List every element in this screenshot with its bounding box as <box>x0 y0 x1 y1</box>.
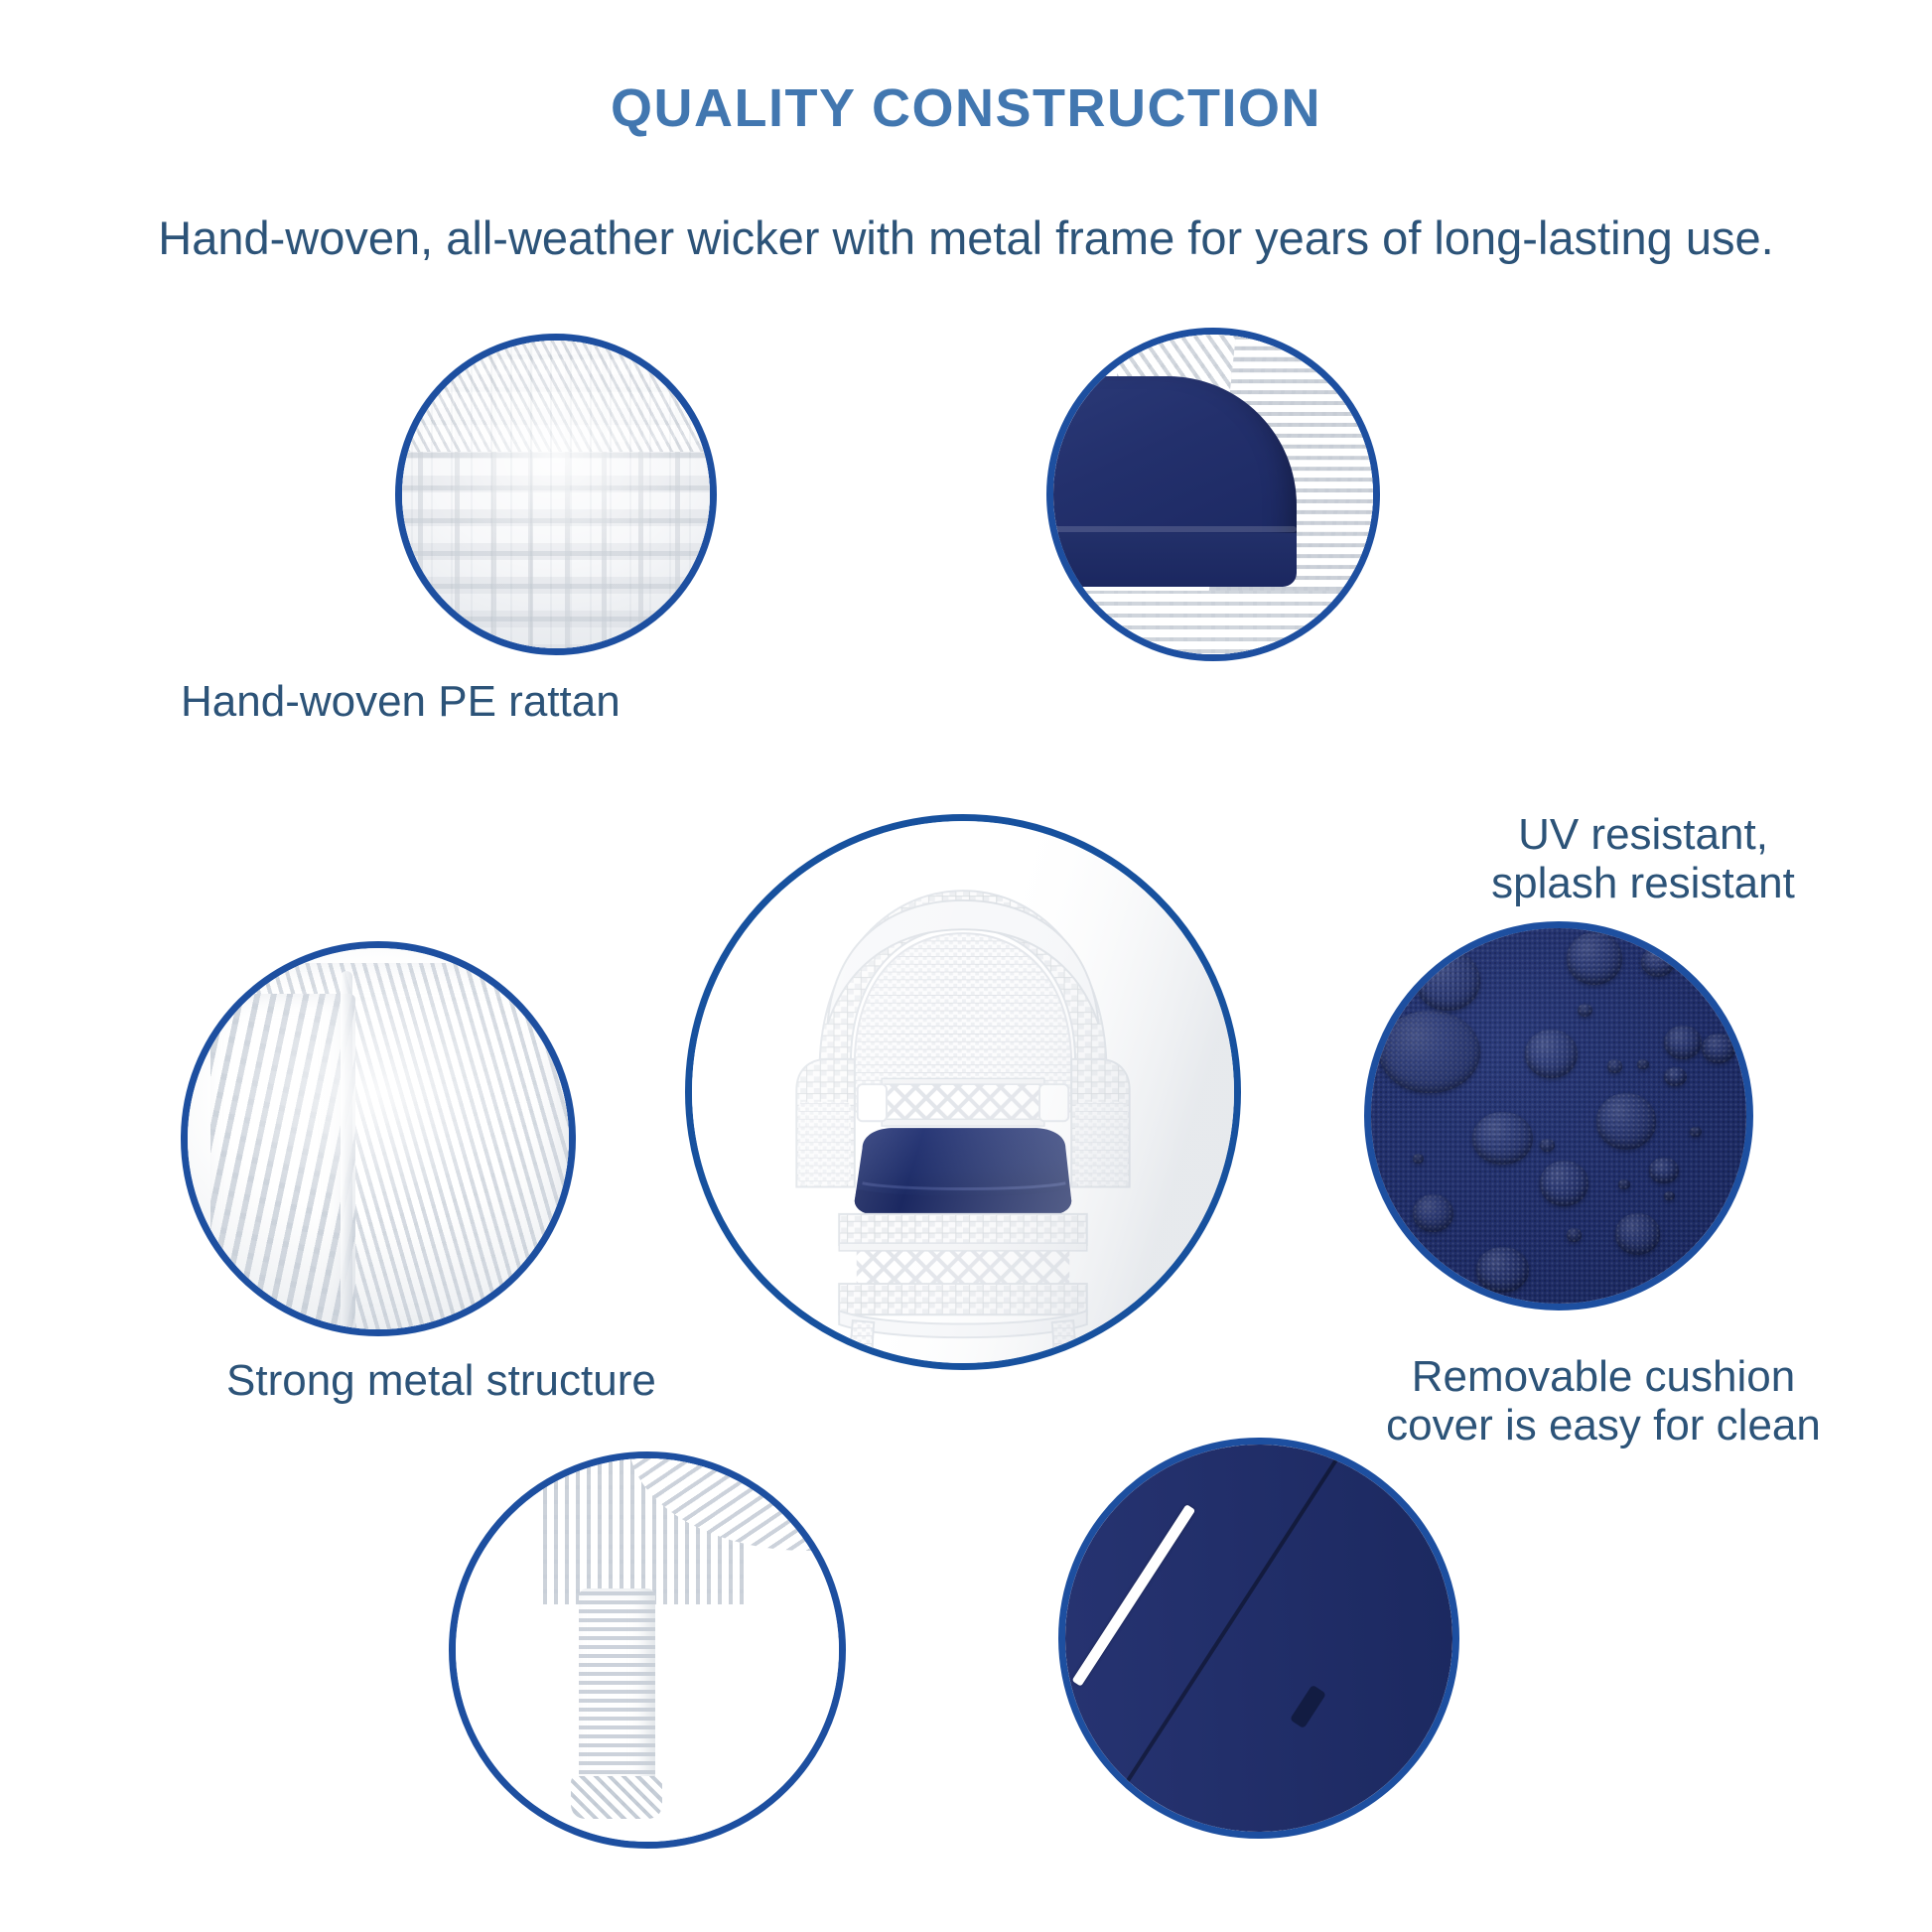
water-drop <box>1476 1247 1529 1292</box>
water-drop <box>1664 1026 1702 1059</box>
water-drop <box>1567 932 1623 985</box>
page-subtitle: Hand-woven, all-weather wicker with meta… <box>0 210 1932 265</box>
wicker-seat-base <box>1046 591 1341 661</box>
water-drop <box>1641 947 1675 977</box>
water-drop <box>1379 1011 1480 1093</box>
water-drop <box>1416 951 1479 1011</box>
water-drop <box>1649 1158 1679 1183</box>
wicker-armchair-illustration <box>692 821 1234 1363</box>
water-drop <box>1578 1004 1592 1017</box>
quality-construction-infographic: QUALITY CONSTRUCTION Hand-woven, all-wea… <box>0 0 1932 1932</box>
water-drop <box>1413 1194 1454 1232</box>
wicker-top-crosshatch <box>395 334 717 452</box>
water-drop <box>1690 1127 1701 1137</box>
water-drop <box>1664 1067 1687 1086</box>
leg-wrapped-shaft <box>579 1588 655 1788</box>
water-drop <box>1567 1228 1582 1241</box>
caption-removable-cushion-cover: Removable cushion cover is easy for clea… <box>1320 1352 1886 1450</box>
water-drop <box>1540 1161 1588 1205</box>
water-drop <box>1472 1112 1532 1165</box>
feature-circle-full-chair <box>685 814 1241 1370</box>
chair-arm-structure-image <box>188 948 569 1329</box>
arm-corner-edge <box>341 971 352 1336</box>
page-title: QUALITY CONSTRUCTION <box>0 77 1932 139</box>
navy-cover-panel <box>1065 1445 1452 1832</box>
wicker-weave-image <box>402 341 710 648</box>
feature-circle-removable-cushion-cover <box>1364 921 1753 1311</box>
caption-hand-woven-pe-rattan: Hand-woven PE rattan <box>181 677 697 726</box>
water-drop <box>1615 1213 1660 1255</box>
caption-strong-metal-structure: Strong metal structure <box>226 1356 782 1405</box>
water-drop <box>1525 1030 1578 1078</box>
full-chair-image <box>692 821 1234 1363</box>
water-droplets-image <box>1371 928 1746 1304</box>
arm-front-openweave <box>210 994 355 1336</box>
chair-leg-image <box>456 1458 839 1842</box>
cushion-zipper-image <box>1065 1445 1452 1832</box>
cushion-on-wicker-image <box>1053 335 1373 654</box>
leg-woven-foot <box>571 1776 663 1818</box>
wicker-sheen <box>402 341 710 648</box>
water-drop <box>1540 1139 1555 1152</box>
feature-circle-strong-metal-structure <box>181 941 576 1336</box>
navy-cushion-front <box>1046 533 1297 588</box>
water-drop <box>1618 1179 1629 1189</box>
feature-circle-uv-splash-resistant <box>1046 328 1380 661</box>
navy-cushion-seam <box>1046 526 1297 532</box>
feature-circle-cushion-zipper <box>1058 1438 1459 1839</box>
water-drop <box>1607 1059 1622 1072</box>
feature-circle-hand-woven-pe-rattan <box>395 334 717 655</box>
water-drop <box>1702 1034 1735 1063</box>
water-drop <box>1596 1093 1656 1150</box>
water-drop <box>1413 1154 1424 1164</box>
caption-uv-splash-resistant: UV resistant, splash resistant <box>1410 810 1876 908</box>
water-drop <box>1637 1059 1648 1069</box>
feature-circle-chair-leg-detail <box>449 1451 846 1849</box>
